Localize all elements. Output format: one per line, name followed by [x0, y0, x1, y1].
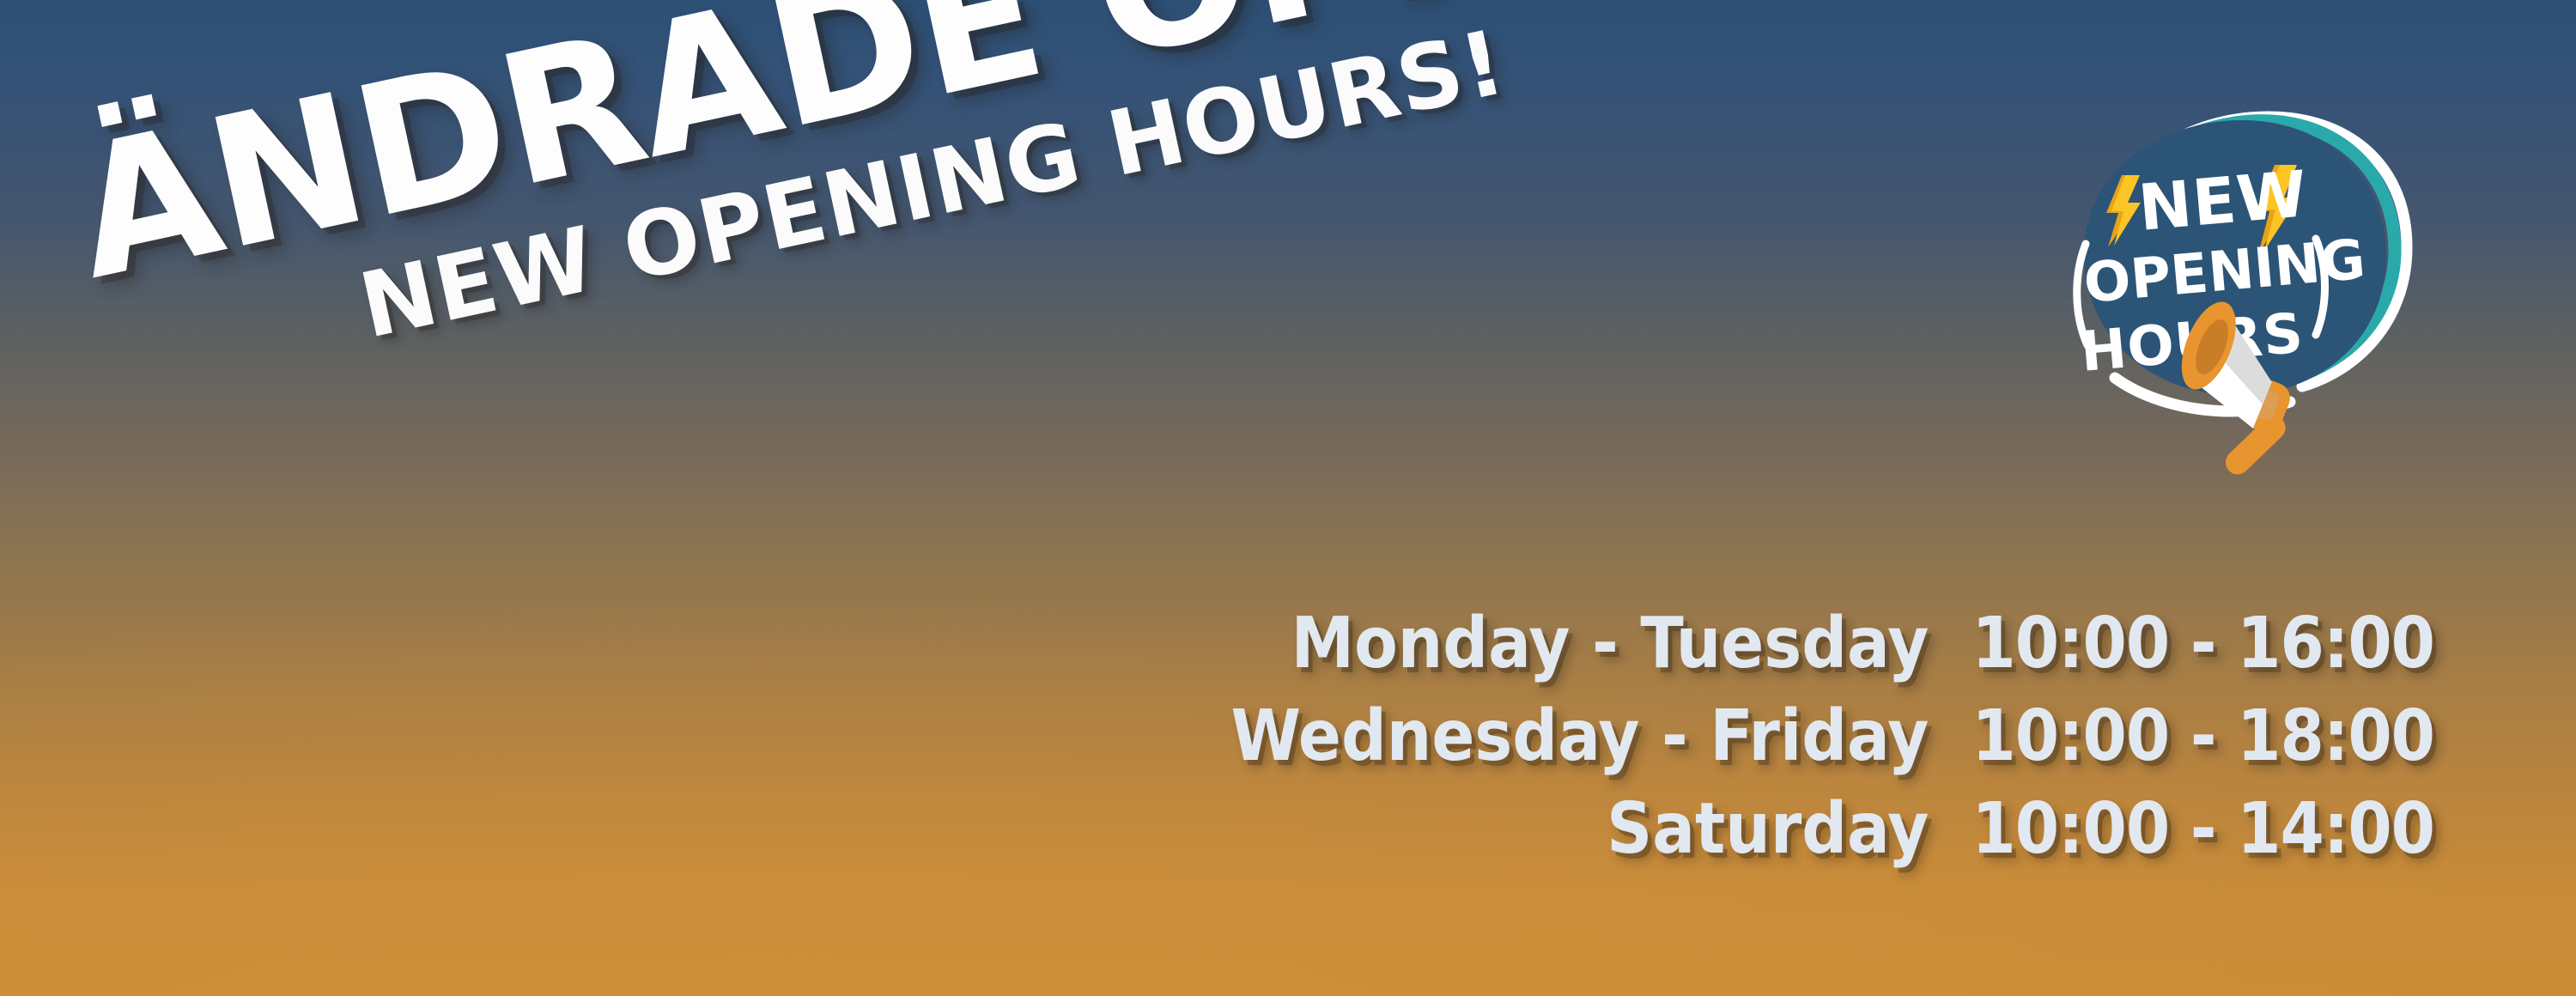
badge-line-1: NEW	[2136, 157, 2311, 246]
hours-day-label: Monday - Tuesday	[1230, 601, 1929, 687]
hours-day-label: Wednesday - Friday	[1230, 694, 1929, 780]
opening-hours-banner: ÄNDRADE ÖPPETTIDER! NEW OPENING HOURS! M…	[0, 0, 2576, 996]
headline-block: ÄNDRADE ÖPPETTIDER! NEW OPENING HOURS!	[61, 0, 1882, 405]
hours-time-value: 10:00 - 14:00	[1971, 786, 2434, 872]
hours-time-value: 10:00 - 16:00	[1971, 601, 2434, 687]
new-opening-hours-badge: NEW OPENING HOURS	[2065, 94, 2477, 464]
hours-time-value: 10:00 - 18:00	[1971, 694, 2434, 780]
hours-day-label: Saturday	[1230, 786, 1929, 872]
opening-hours-table: Monday - Tuesday 10:00 - 16:00 Wednesday…	[1230, 601, 2434, 872]
